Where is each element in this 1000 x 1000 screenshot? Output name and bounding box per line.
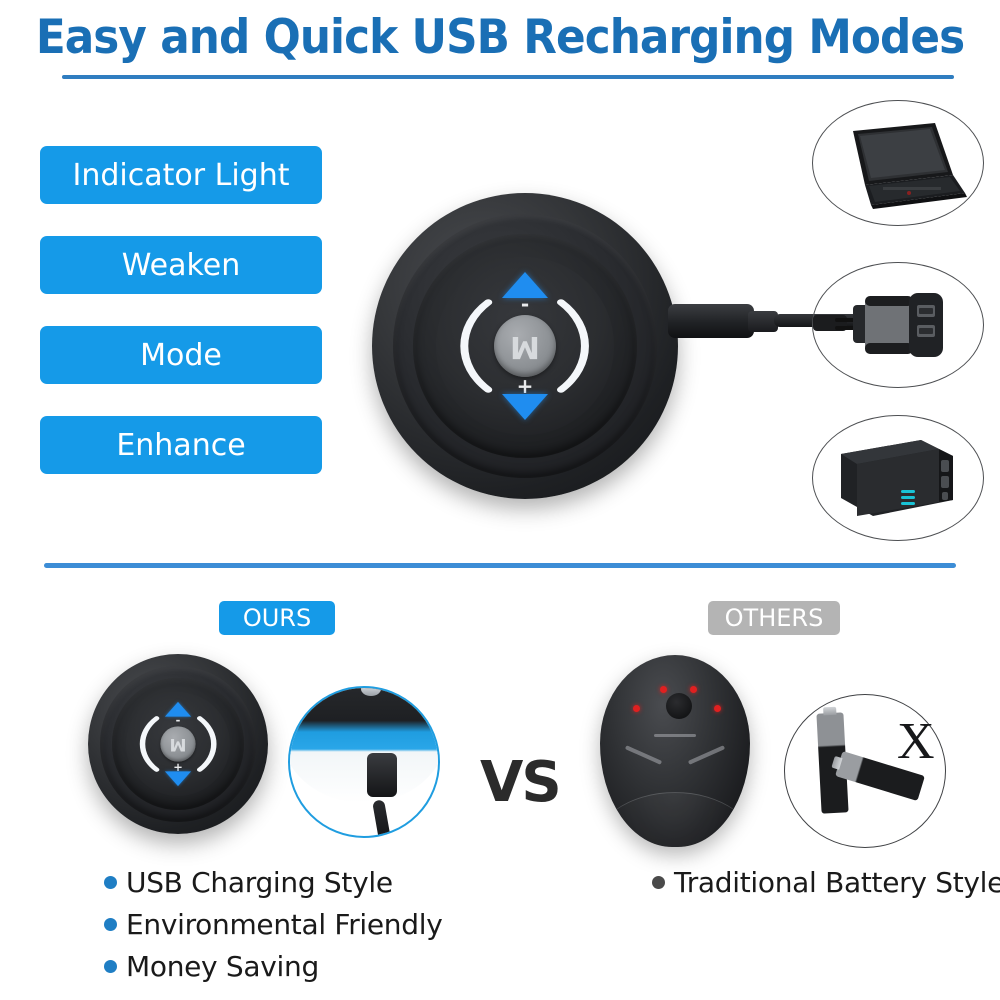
device-dome — [288, 686, 440, 803]
led-indicator-icon — [660, 686, 667, 693]
bullet-dot-icon — [104, 876, 117, 889]
page-title: Easy and Quick USB Recharging Modes — [35, 14, 965, 61]
wall-charger-icon — [813, 263, 983, 387]
device-face: - M + — [436, 257, 614, 435]
device-controls: - M + — [494, 272, 556, 420]
comparison-badge-ours-label: OURS — [243, 604, 311, 632]
triangle-down-icon — [165, 771, 191, 786]
usb-connection-closeup — [288, 686, 440, 838]
laptop-icon — [813, 101, 983, 225]
others-device-image — [600, 655, 750, 847]
section-divider — [44, 563, 956, 568]
comparison-badge-others-label: OTHERS — [725, 604, 824, 632]
led-indicator-icon — [633, 705, 640, 712]
mode-button: M — [160, 726, 195, 761]
mode-button-label: M — [510, 329, 540, 364]
triangle-up-icon — [165, 702, 191, 717]
bullet-dot-icon — [104, 918, 117, 931]
power-bank-icon — [813, 416, 983, 540]
device-controls: - M + — [160, 702, 195, 786]
charging-source-power-bank — [812, 415, 984, 541]
list-item: Money Saving — [104, 950, 442, 983]
charging-source-wall-charger — [812, 262, 984, 388]
increase-symbol: + — [517, 380, 534, 394]
device-center-cap — [666, 693, 692, 719]
indicator-light-arc-left — [130, 715, 161, 773]
others-drawback-list: Traditional Battery Styles — [652, 866, 1000, 908]
usb-plug-icon — [367, 753, 397, 797]
led-indicator-icon — [714, 705, 721, 712]
comparison-badge-ours: OURS — [219, 601, 335, 635]
batteries-illustration: X — [784, 694, 946, 848]
list-item-label: Money Saving — [126, 950, 319, 983]
feature-badge-label: Indicator Light — [73, 158, 290, 193]
device-marking — [654, 734, 696, 737]
indicator-light-arc-right — [195, 715, 226, 773]
mode-button[interactable]: M — [494, 315, 556, 377]
indicator-light-arc-right — [553, 296, 606, 395]
list-item: Environmental Friendly — [104, 908, 442, 941]
device-bottom-curve — [600, 792, 750, 847]
feature-badge-label: Mode — [140, 338, 222, 373]
increase-symbol: + — [173, 763, 183, 771]
comparison-badge-others: OTHERS — [708, 601, 840, 635]
list-item: Traditional Battery Styles — [652, 866, 1000, 899]
feature-badge-label: Weaken — [122, 248, 241, 283]
charging-source-laptop — [812, 100, 984, 226]
usb-cable-plug — [668, 304, 754, 338]
bullet-dot-icon — [104, 960, 117, 973]
triangle-down-icon[interactable] — [502, 394, 548, 420]
infographic-page: Easy and Quick USB Recharging Modes Indi… — [0, 0, 1000, 1000]
mode-button-label: M — [169, 734, 186, 754]
list-item-label: Environmental Friendly — [126, 908, 442, 941]
vs-label: VS — [480, 750, 590, 815]
ours-device-image: - M + — [88, 654, 268, 834]
list-item: USB Charging Style — [104, 866, 442, 899]
feature-badge-mode[interactable]: Mode — [40, 326, 322, 384]
feature-badge-indicator-light[interactable]: Indicator Light — [40, 146, 322, 204]
cross-mark-icon: X — [897, 717, 943, 769]
led-indicator-icon — [690, 686, 697, 693]
feature-badge-weaken[interactable]: Weaken — [40, 236, 322, 294]
title-underline — [62, 75, 954, 79]
page-title-wrap: Easy and Quick USB Recharging Modes — [0, 14, 1000, 61]
list-item-label: Traditional Battery Styles — [674, 866, 1000, 899]
main-device-image: - M + — [372, 193, 678, 499]
device-marking — [625, 745, 662, 765]
decrease-symbol: - — [176, 717, 181, 725]
usb-cable-wire — [372, 800, 392, 838]
triangle-up-icon[interactable] — [502, 272, 548, 298]
list-item-label: USB Charging Style — [126, 866, 393, 899]
feature-label-list: Indicator Light Weaken Mode Enhance — [40, 146, 322, 506]
bullet-dot-icon — [652, 876, 665, 889]
ours-benefit-list: USB Charging Style Environmental Friendl… — [104, 866, 442, 992]
device-marking — [688, 745, 725, 765]
indicator-light-arc-left — [443, 296, 496, 395]
decrease-symbol: - — [521, 298, 529, 312]
feature-badge-enhance[interactable]: Enhance — [40, 416, 322, 474]
device-face: - M + — [126, 692, 230, 796]
feature-badge-label: Enhance — [116, 428, 245, 463]
